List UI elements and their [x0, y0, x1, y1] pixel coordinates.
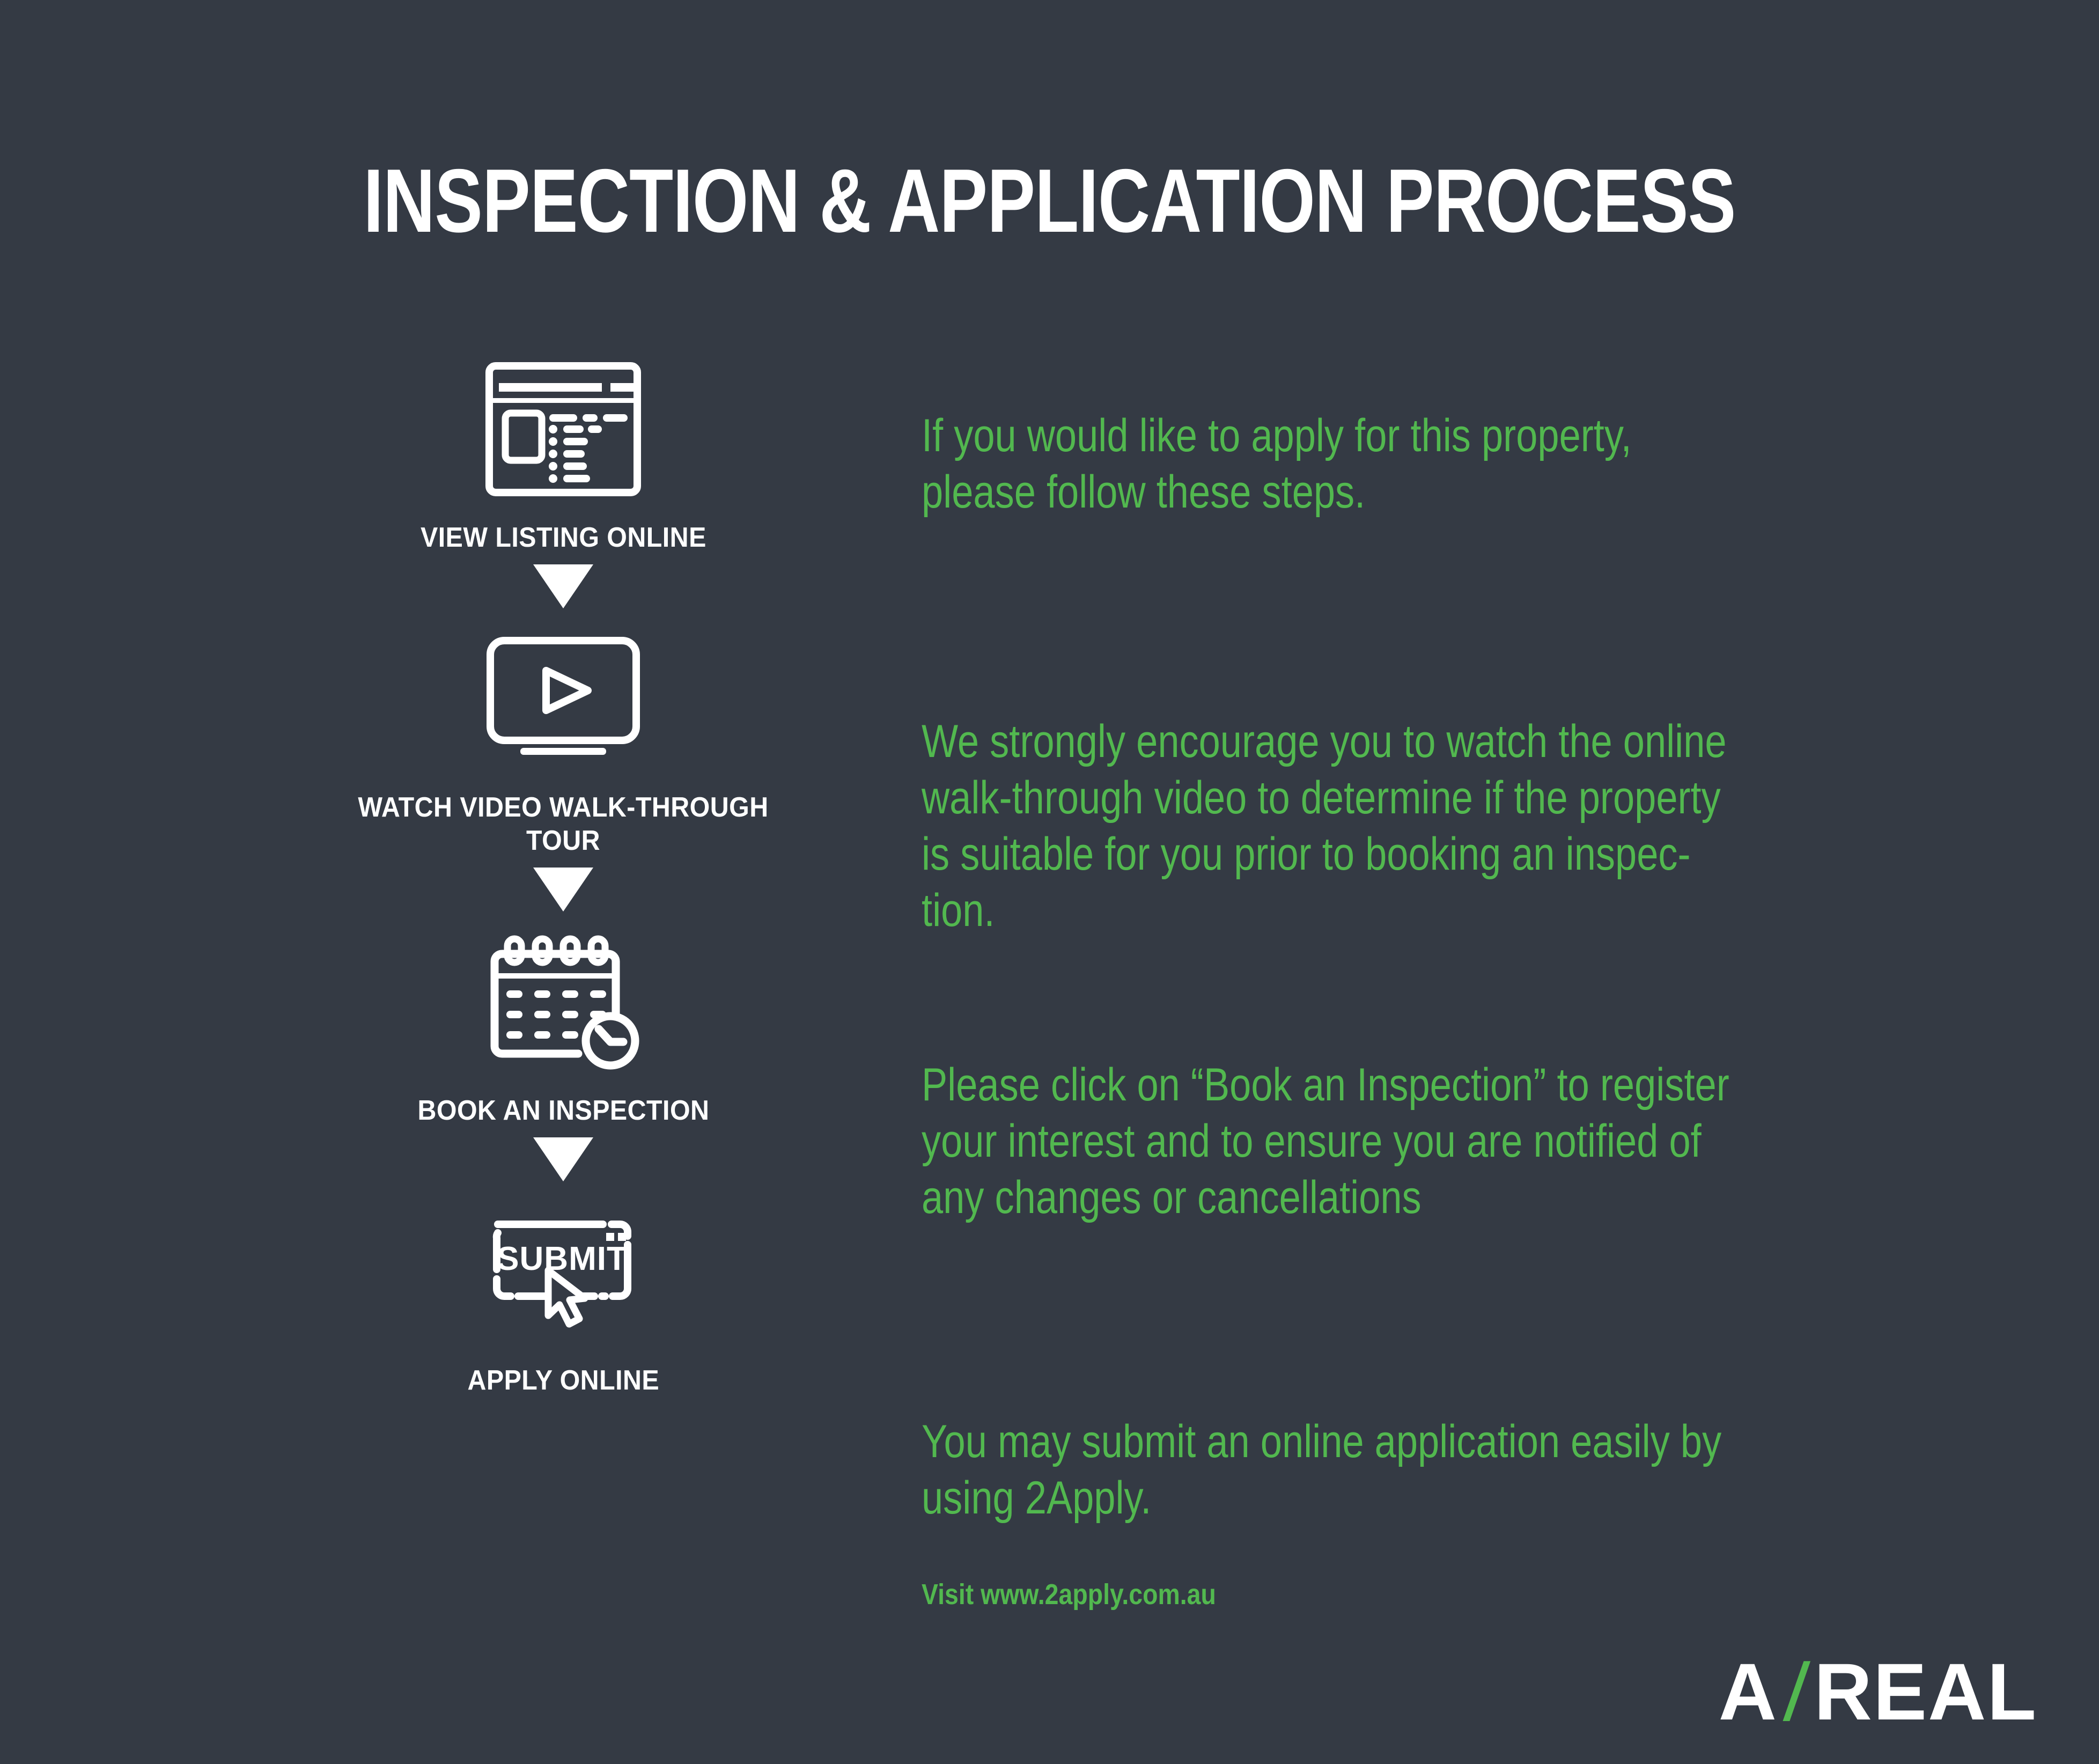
logo-mark-right: REAL — [1814, 1651, 2037, 1732]
step-label-apply-online: APPLY ONLINE — [467, 1364, 659, 1397]
step-label-watch-video: WATCH VIDEO WALK-THROUGH TOUR — [349, 791, 778, 857]
logo-mark-left: A — [1719, 1651, 1778, 1732]
step-watch-video: WATCH VIDEO WALK-THROUGH TOUR — [333, 619, 794, 857]
copy-view-listing: If you would like to apply for this prop… — [922, 408, 1632, 520]
video-play-icon — [448, 619, 679, 780]
copy-book-inspection: Please click on “Book an Inspection” to … — [922, 1057, 1729, 1226]
submit-cursor-icon: SUBMIT — [448, 1192, 679, 1353]
copy-apply-online: You may submit an online application eas… — [922, 1414, 1721, 1526]
step-view-listing: VIEW LISTING ONLINE — [333, 349, 794, 554]
browser-listing-icon — [448, 349, 679, 510]
down-arrow-separator-1 — [333, 554, 794, 619]
down-arrow-icon — [533, 868, 593, 912]
step-apply-online: SUBMIT APPLY ONLINE — [333, 1192, 794, 1397]
copy-watch-video: We strongly encourage you to watch the o… — [922, 714, 1727, 939]
down-arrow-separator-2 — [333, 857, 794, 922]
steps-column: VIEW LISTING ONLINE WATCH VIDEO WALK-THR… — [333, 349, 794, 1398]
visit-link[interactable]: Visit www.2apply.com.au — [922, 1577, 1216, 1612]
step-label-book-inspection: BOOK AN INSPECTION — [417, 1094, 709, 1127]
brand-logo: A / REAL — [1719, 1651, 2037, 1732]
down-arrow-separator-3 — [333, 1127, 794, 1192]
down-arrow-icon — [533, 564, 593, 608]
down-arrow-icon — [533, 1137, 593, 1181]
step-book-inspection: BOOK AN INSPECTION — [333, 922, 794, 1127]
logo-slash-icon: / — [1780, 1651, 1814, 1732]
svg-text:SUBMIT: SUBMIT — [497, 1240, 628, 1277]
calendar-clock-icon — [448, 922, 679, 1083]
step-label-view-listing: VIEW LISTING ONLINE — [421, 521, 706, 554]
poster-canvas: INSPECTION & APPLICATION PROCESS — [0, 0, 2099, 1764]
page-title: INSPECTION & APPLICATION PROCESS — [210, 156, 1889, 246]
